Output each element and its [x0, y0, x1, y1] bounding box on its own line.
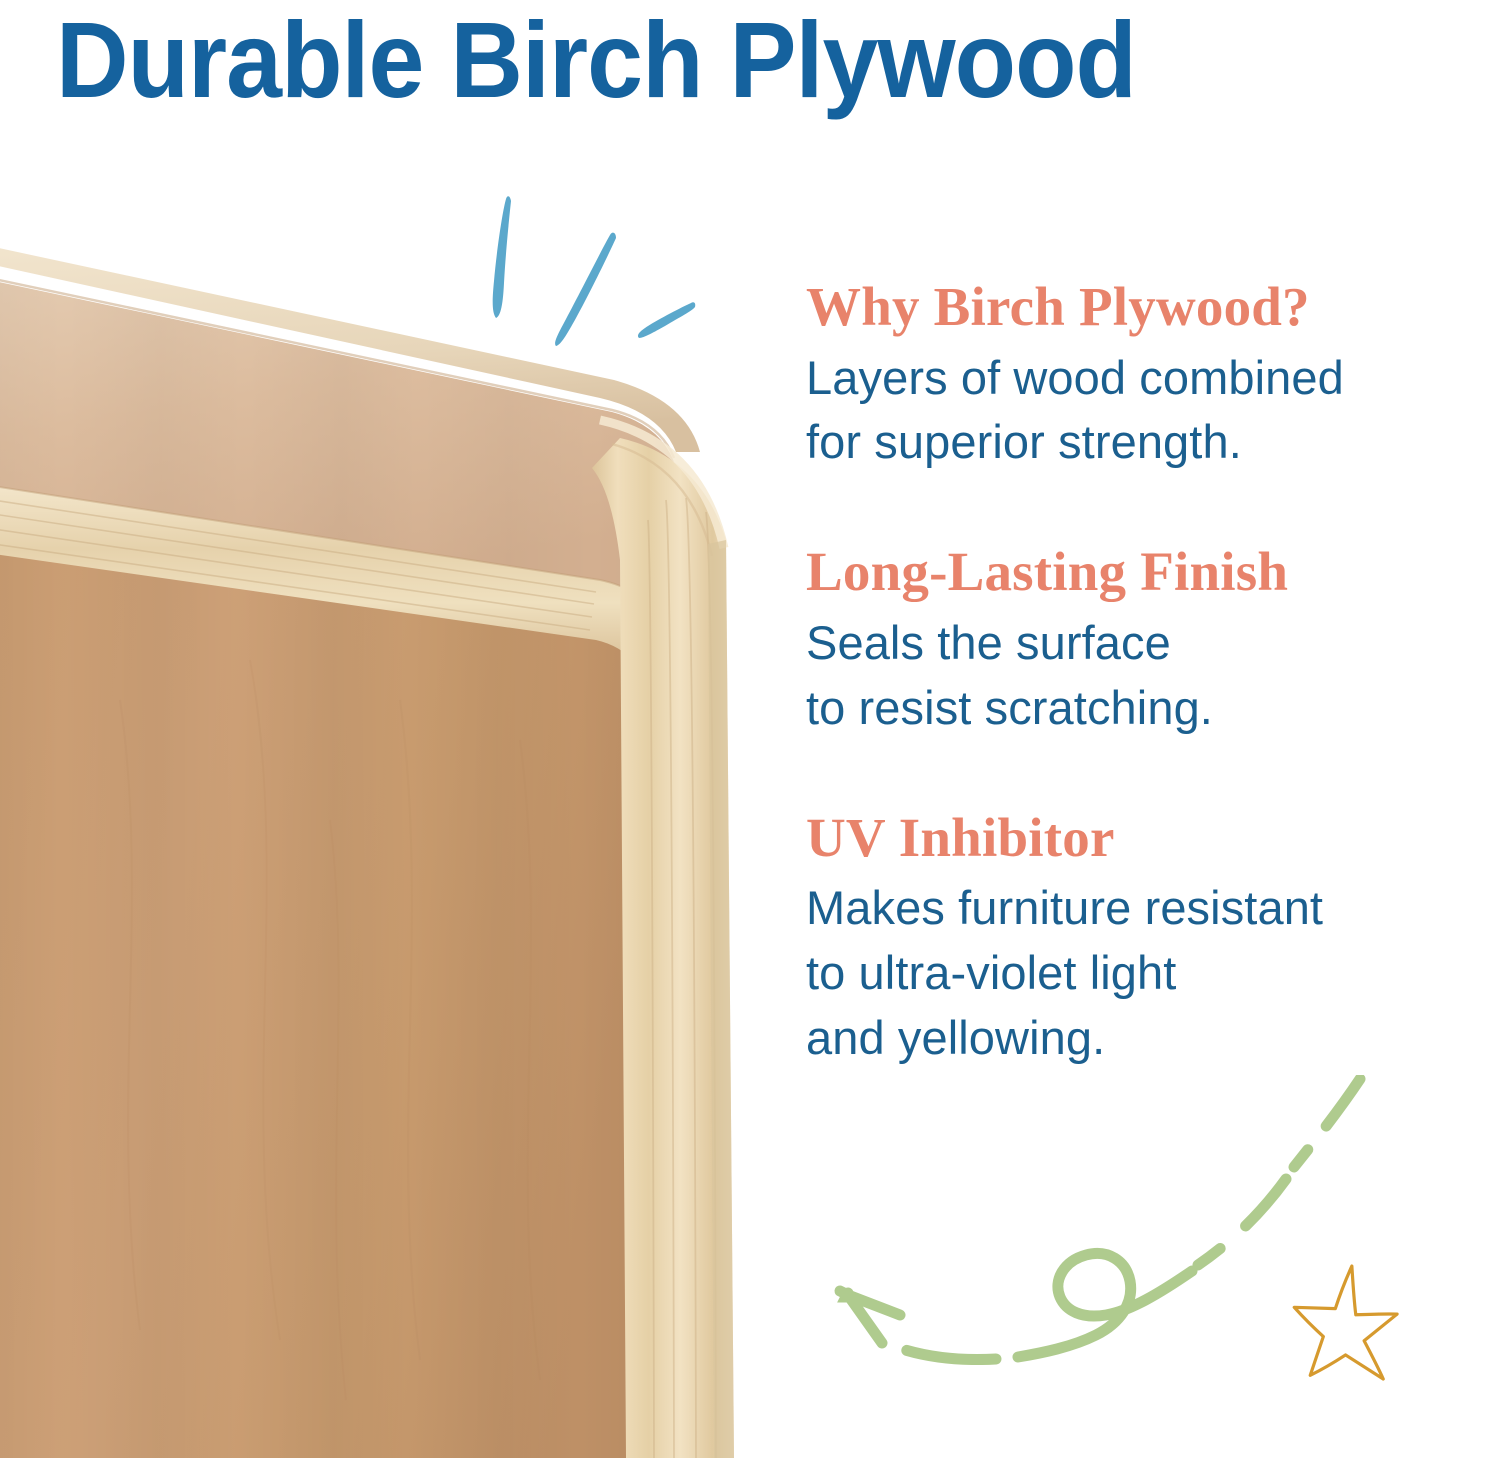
feature-body-3: Makes furniture resistant to ultra-viole… [806, 876, 1466, 1071]
feature-block-2: Long-Lasting Finish Seals the surface to… [806, 541, 1466, 740]
feature-heading-3: UV Inhibitor [806, 807, 1466, 869]
feature-body-line: to ultra-violet light [806, 941, 1466, 1006]
feature-list: Why Birch Plywood? Layers of wood combin… [806, 276, 1466, 1071]
wood-front-panel-grain [0, 552, 660, 1458]
feature-heading-1: Why Birch Plywood? [806, 276, 1466, 338]
feature-body-2: Seals the surface to resist scratching. [806, 611, 1466, 741]
feature-block-3: UV Inhibitor Makes furniture resistant t… [806, 807, 1466, 1071]
feature-body-line: Makes furniture resistant [806, 876, 1466, 941]
feature-block-1: Why Birch Plywood? Layers of wood combin… [806, 276, 1466, 475]
feature-body-line: to resist scratching. [806, 676, 1466, 741]
curved-arrow-decoration [820, 1075, 1390, 1370]
star-decoration [1288, 1258, 1408, 1391]
star-icon [1288, 1258, 1408, 1386]
plywood-corner-illustration [0, 0, 760, 1458]
feature-body-line: Seals the surface [806, 611, 1466, 676]
feature-body-line: and yellowing. [806, 1006, 1466, 1071]
feature-heading-2: Long-Lasting Finish [806, 541, 1466, 603]
product-photo [0, 0, 760, 1458]
feature-body-line: Layers of wood combined [806, 346, 1466, 411]
curved-arrow-icon [820, 1075, 1390, 1365]
feature-body-line: for superior strength. [806, 410, 1466, 475]
infographic-root: Durable Birch Plywood [0, 0, 1500, 1458]
feature-body-1: Layers of wood combined for superior str… [806, 346, 1466, 476]
